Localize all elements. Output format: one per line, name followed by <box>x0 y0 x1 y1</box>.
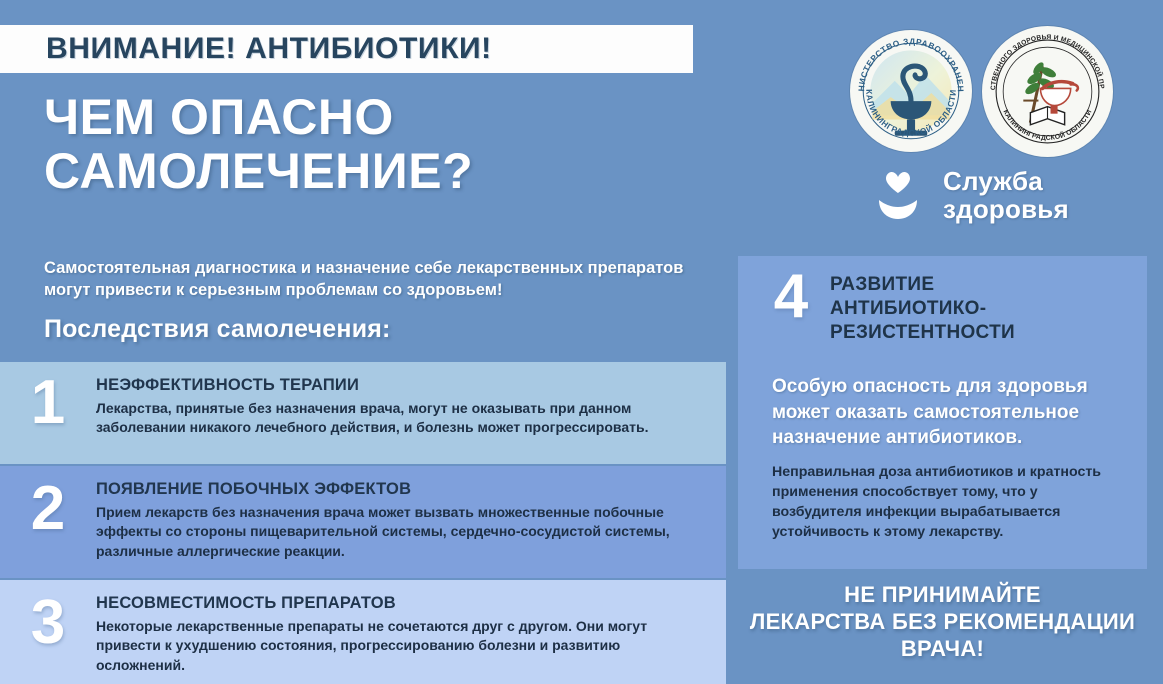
health-service-label: Служба здоровья <box>943 168 1069 224</box>
list-item-title: ПОЯВЛЕНИЕ ПОБОЧНЫХ ЭФФЕКТОВ <box>96 480 696 499</box>
right-column: МИНИСТЕРСТВО ЗДРАВООХРАНЕНИЯ КАЛИНИНГРАД… <box>726 0 1163 684</box>
attention-banner: ВНИМАНИЕ! АНТИБИОТИКИ! <box>0 25 693 73</box>
logo-group: МИНИСТЕРСТВО ЗДРАВООХРАНЕНИЯ КАЛИНИНГРАД… <box>850 26 1140 158</box>
attention-banner-text: ВНИМАНИЕ! АНТИБИОТИКИ! <box>46 32 492 66</box>
resistance-panel: 4 РАЗВИТИЕ АНТИБИОТИКО- РЕЗИСТЕНТНОСТИ О… <box>738 256 1147 569</box>
list-item: 1 НЕЭФФЕКТИВНОСТЬ ТЕРАПИИ Лекарства, при… <box>0 362 726 464</box>
resistance-title-line2: АНТИБИОТИКО- <box>830 298 986 319</box>
public-health-center-seal-icon: ЦЕНТР ОБЩЕСТВЕННОГО ЗДОРОВЬЯ И МЕДИЦИНСК… <box>982 26 1113 157</box>
list-item: 3 НЕСОВМЕСТИМОСТЬ ПРЕПАРАТОВ Некоторые л… <box>0 580 726 684</box>
page-title-line1: ЧЕМ ОПАСНО <box>44 89 394 145</box>
lead-paragraph: Самостоятельная диагностика и назначение… <box>44 258 716 302</box>
resistance-note-text: Неправильная доза антибиотиков и кратнос… <box>772 463 1130 543</box>
poster-root: ВНИМАНИЕ! АНТИБИОТИКИ! ЧЕМ ОПАСНО САМОЛЕ… <box>0 0 1163 684</box>
page-title-line2: САМОЛЕЧЕНИЕ? <box>44 148 704 195</box>
list-item-text: Некоторые лекарственные препараты не соч… <box>96 617 696 675</box>
health-service-line1: Служба <box>943 166 1043 196</box>
heart-smile-icon <box>871 170 925 222</box>
list-item-body: НЕСОВМЕСТИМОСТЬ ПРЕПАРАТОВ Некоторые лек… <box>96 580 718 675</box>
list-item-body: ПОЯВЛЕНИЕ ПОБОЧНЫХ ЭФФЕКТОВ Прием лекарс… <box>96 466 718 561</box>
footer-cta-line3: ВРАЧА! <box>901 636 984 661</box>
list-item-text: Лекарства, принятые без назначения врача… <box>96 399 696 438</box>
list-item-title: РАЗВИТИЕ АНТИБИОТИКО- РЕЗИСТЕНТНОСТИ <box>830 268 1015 345</box>
resistance-title-line1: РАЗВИТИЕ <box>830 274 934 295</box>
resistance-panel-header: 4 РАЗВИТИЕ АНТИБИОТИКО- РЕЗИСТЕНТНОСТИ <box>752 268 1015 345</box>
page-title: ЧЕМ ОПАСНО САМОЛЕЧЕНИЕ? <box>44 94 704 195</box>
list-item-title: НЕЭФФЕКТИВНОСТЬ ТЕРАПИИ <box>96 376 696 395</box>
resistance-title-line3: РЕЗИСТЕНТНОСТИ <box>830 322 1015 343</box>
list-item-number: 3 <box>0 580 96 654</box>
footer-call-to-action: НЕ ПРИНИМАЙТЕ ЛЕКАРСТВА БЕЗ РЕКОМЕНДАЦИИ… <box>738 582 1147 662</box>
list-item-number: 4 <box>752 268 830 325</box>
left-column: ВНИМАНИЕ! АНТИБИОТИКИ! ЧЕМ ОПАСНО САМОЛЕ… <box>0 0 726 684</box>
list-item: 2 ПОЯВЛЕНИЕ ПОБОЧНЫХ ЭФФЕКТОВ Прием лека… <box>0 466 726 578</box>
health-service-logo: Служба здоровья <box>871 168 1069 224</box>
list-item-title: НЕСОВМЕСТИМОСТЬ ПРЕПАРАТОВ <box>96 594 696 613</box>
footer-cta-line2: ЛЕКАРСТВА БЕЗ РЕКОМЕНДАЦИИ <box>750 609 1135 634</box>
health-service-line2: здоровья <box>943 194 1069 224</box>
list-item-number: 1 <box>0 362 96 434</box>
ministry-health-seal-icon: МИНИСТЕРСТВО ЗДРАВООХРАНЕНИЯ КАЛИНИНГРАД… <box>850 30 972 152</box>
list-item-number: 2 <box>0 466 96 540</box>
list-item-text: Прием лекарств без назначения врача може… <box>96 503 696 561</box>
consequences-heading: Последствия самолечения: <box>44 315 391 344</box>
footer-cta-line1: НЕ ПРИНИМАЙТЕ <box>844 582 1041 607</box>
resistance-lead-text: Особую опасность для здоровья может оказ… <box>772 374 1132 451</box>
list-item-body: НЕЭФФЕКТИВНОСТЬ ТЕРАПИИ Лекарства, приня… <box>96 362 718 438</box>
